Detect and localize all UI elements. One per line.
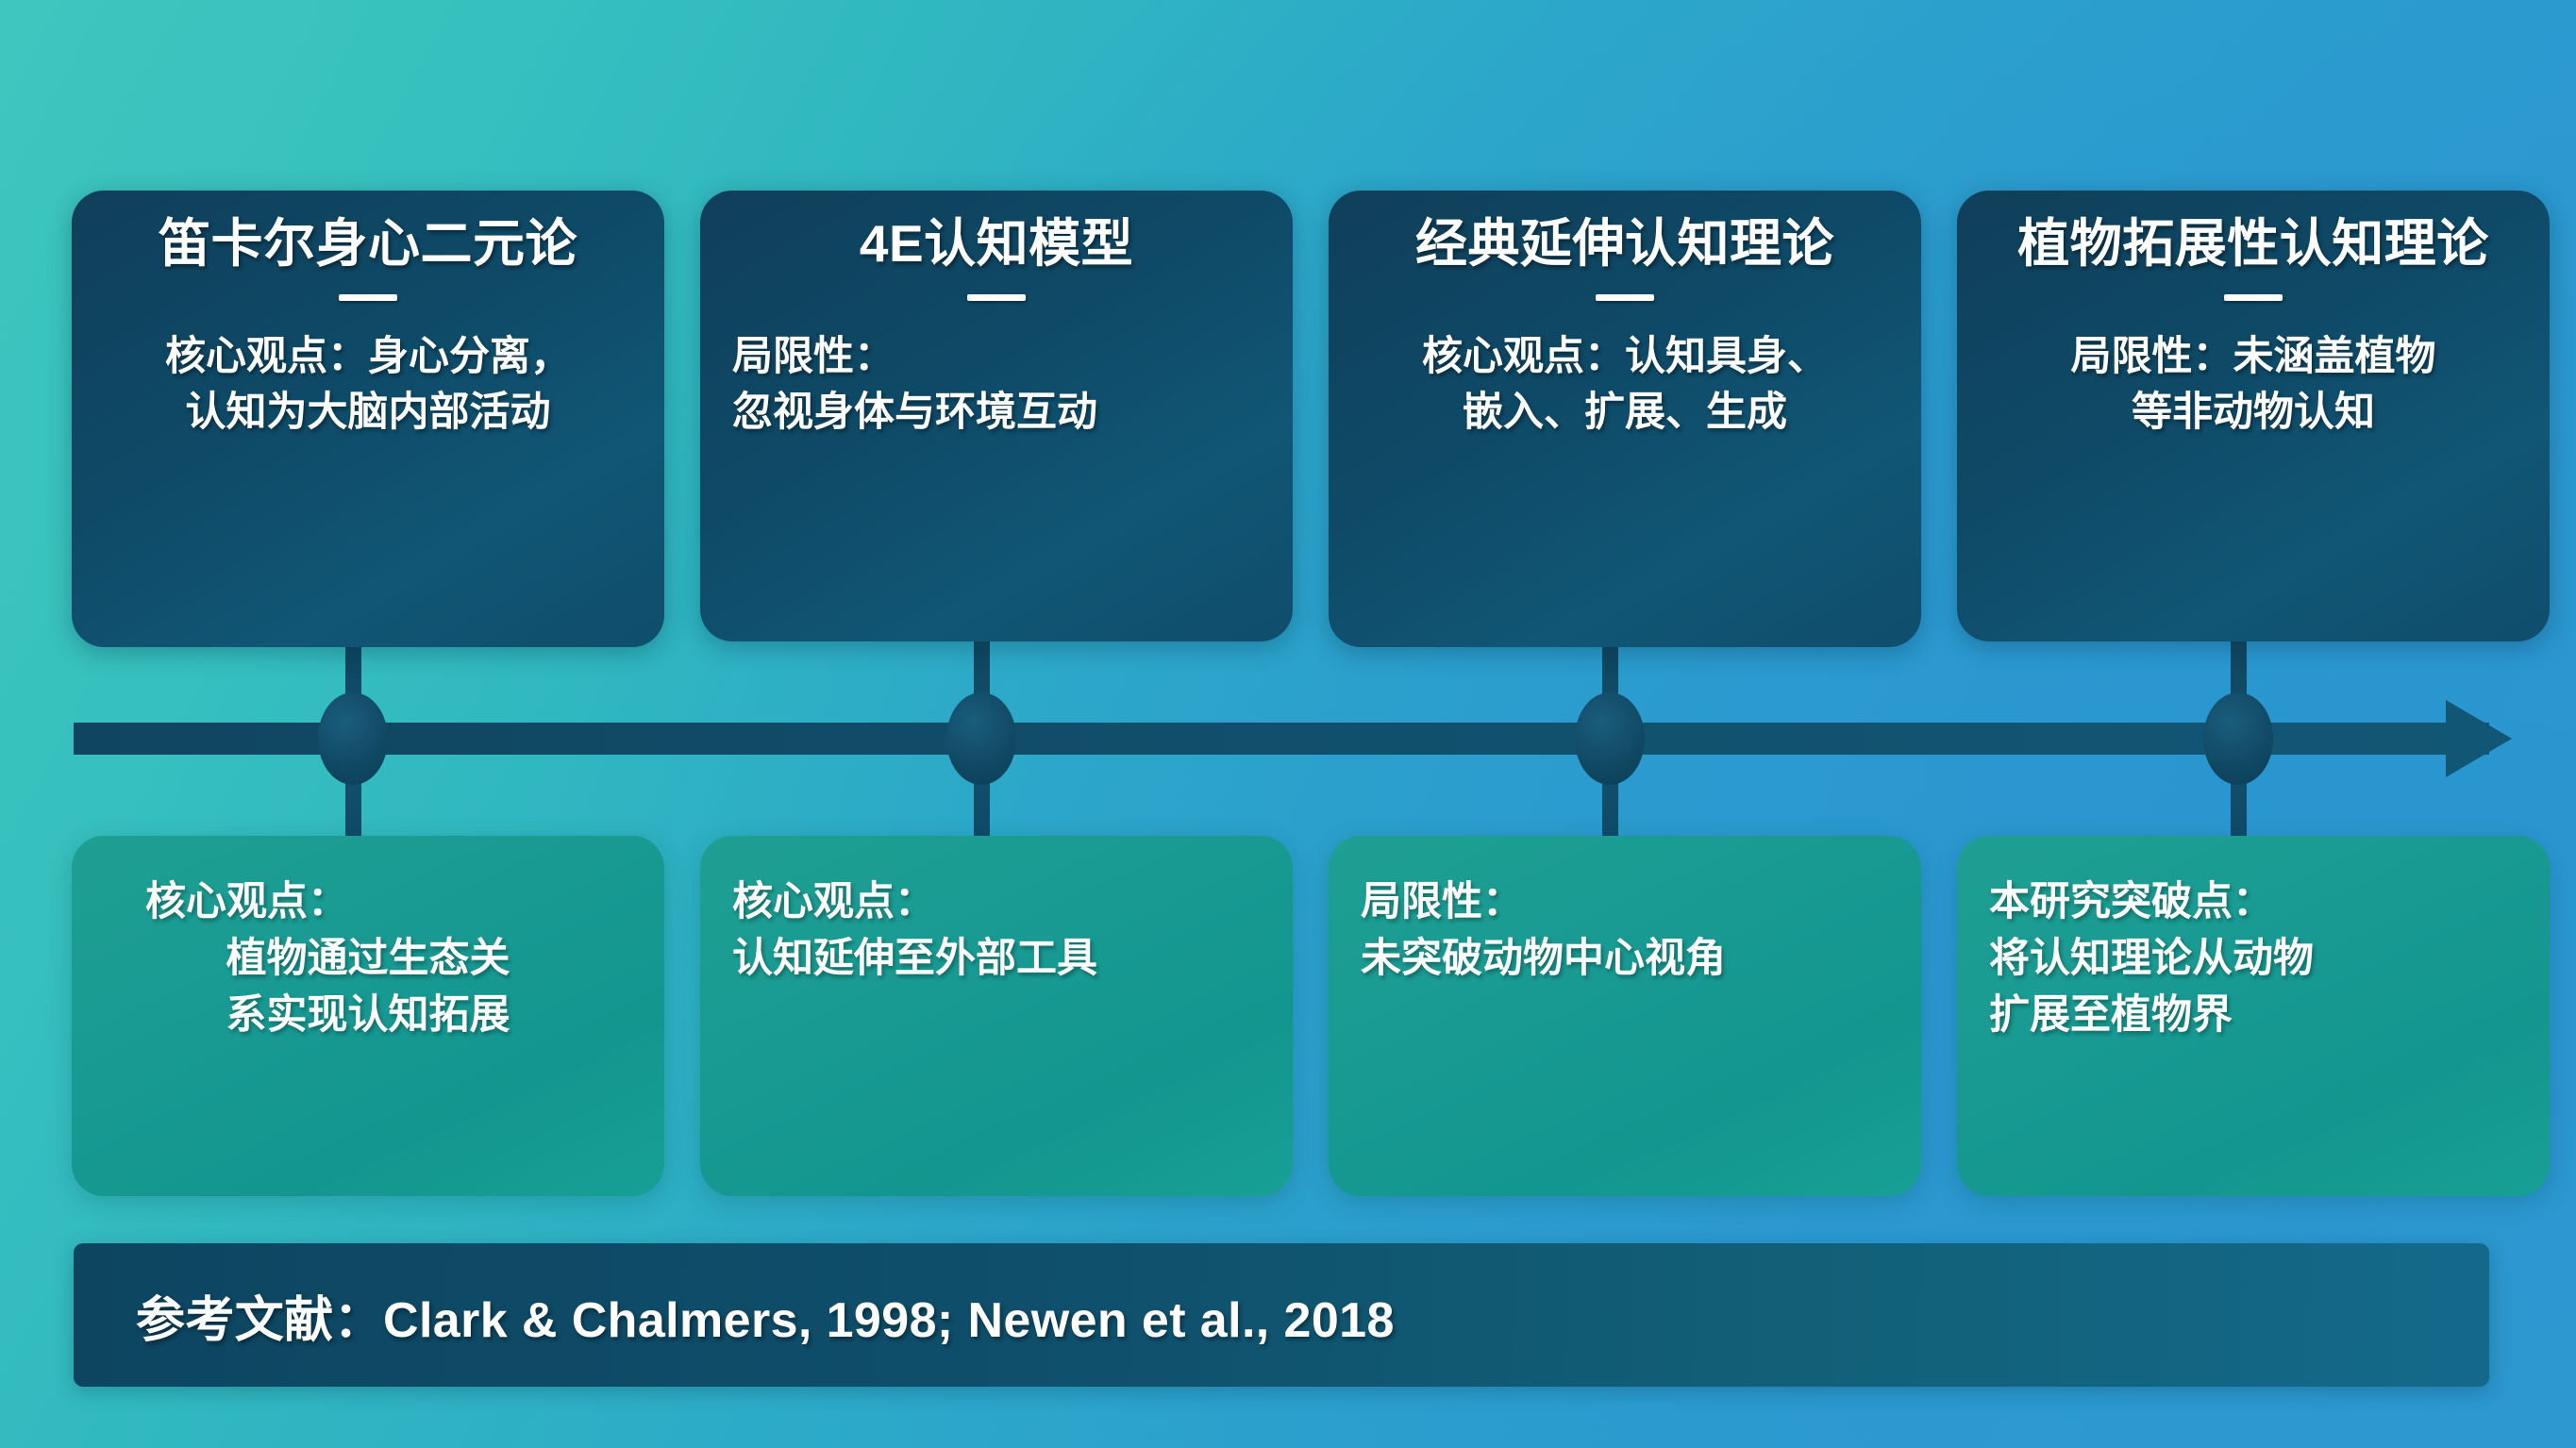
timeline-arrowhead-icon <box>2446 700 2512 777</box>
theory-card-1-body: 核心观点：身心分离， 认知为大脑内部活动 <box>165 329 571 441</box>
insight-card-1-label: 核心观点： <box>104 874 348 930</box>
insight-card-2[interactable]: 核心观点： 认知延伸至外部工具 <box>700 836 1293 1196</box>
timeline-node-2[interactable] <box>946 692 1016 785</box>
theory-card-2-divider <box>967 294 1026 301</box>
theory-card-2[interactable]: 4E认知模型 局限性： 忽视身体与环境互动 <box>700 191 1293 641</box>
insight-card-3-label: 局限性： <box>1361 874 1889 930</box>
theory-card-3-body-line-1: 核心观点：认知具身、 <box>1422 329 1828 385</box>
theory-card-3[interactable]: 经典延伸认知理论 核心观点：认知具身、 嵌入、扩展、生成 <box>1329 191 1921 647</box>
theory-card-4-divider <box>2224 294 2283 301</box>
theory-card-4[interactable]: 植物拓展性认知理论 局限性：未涵盖植物 等非动物认知 <box>1957 191 2550 641</box>
insight-card-1[interactable]: 核心观点： 植物通过生态关 系实现认知拓展 <box>72 836 664 1196</box>
theory-card-1[interactable]: 笛卡尔身心二元论 核心观点：身心分离， 认知为大脑内部活动 <box>72 191 664 647</box>
theory-card-1-divider <box>339 294 397 301</box>
theory-card-3-body-line-2: 嵌入、扩展、生成 <box>1422 385 1828 441</box>
theory-card-3-divider <box>1596 294 1654 301</box>
insight-card-3-text: 未突破动物中心视角 <box>1361 930 1889 987</box>
reference-footer-text: 参考文献：Clark & Chalmers, 1998; Newen et al… <box>136 1280 1395 1351</box>
theory-card-2-title: 4E认知模型 <box>860 215 1133 274</box>
insight-card-4-text: 将认知理论从动物 扩展至植物界 <box>1989 930 2517 1043</box>
theory-card-4-body-line-1: 局限性：未涵盖植物 <box>2071 329 2436 385</box>
reference-footer-bar: 参考文献：Clark & Chalmers, 1998; Newen et al… <box>74 1243 2489 1387</box>
timeline-node-3[interactable] <box>1575 692 1645 785</box>
insight-card-4[interactable]: 本研究突破点： 将认知理论从动物 扩展至植物界 <box>1957 836 2550 1196</box>
infographic-canvas: 笛卡尔身心二元论 核心观点：身心分离， 认知为大脑内部活动 4E认知模型 局限性… <box>0 0 2576 1448</box>
theory-card-3-body: 核心观点：认知具身、 嵌入、扩展、生成 <box>1422 329 1828 441</box>
theory-card-3-title: 经典延伸认知理论 <box>1415 215 1834 274</box>
theory-card-1-body-line-2: 认知为大脑内部活动 <box>165 385 571 441</box>
insight-card-3-text-line-1: 未突破动物中心视角 <box>1361 930 1889 987</box>
insight-card-4-label: 本研究突破点： <box>1989 874 2517 930</box>
theory-card-4-body-line-2: 等非动物认知 <box>2071 385 2436 441</box>
timeline-node-4[interactable] <box>2203 692 2273 785</box>
theory-card-1-body-line-1: 核心观点：身心分离， <box>165 329 571 385</box>
insight-card-1-text-line-1: 植物通过生态关 <box>226 930 510 987</box>
timeline-axis <box>74 723 2489 755</box>
insight-card-4-text-line-1: 将认知理论从动物 <box>1989 930 2517 987</box>
insight-card-4-text-line-2: 扩展至植物界 <box>1989 987 2517 1043</box>
insight-card-2-text-line-1: 认知延伸至外部工具 <box>732 930 1261 987</box>
insight-card-1-text-line-2: 系实现认知拓展 <box>226 987 510 1043</box>
insight-card-1-text: 植物通过生态关 系实现认知拓展 <box>226 930 510 1043</box>
theory-card-2-body-line-2: 忽视身体与环境互动 <box>732 385 1097 441</box>
theory-card-1-title: 笛卡尔身心二元论 <box>159 215 577 274</box>
theory-card-2-body: 局限性： 忽视身体与环境互动 <box>723 329 1097 441</box>
insight-card-3[interactable]: 局限性： 未突破动物中心视角 <box>1329 836 1921 1196</box>
theory-card-4-title: 植物拓展性认知理论 <box>2017 215 2489 274</box>
theory-card-2-body-line-1: 局限性： <box>732 329 1097 385</box>
insight-card-2-label: 核心观点： <box>732 874 1261 930</box>
timeline-node-1[interactable] <box>318 692 388 785</box>
insight-card-2-text: 认知延伸至外部工具 <box>732 930 1261 987</box>
theory-card-4-body: 局限性：未涵盖植物 等非动物认知 <box>2071 329 2436 441</box>
